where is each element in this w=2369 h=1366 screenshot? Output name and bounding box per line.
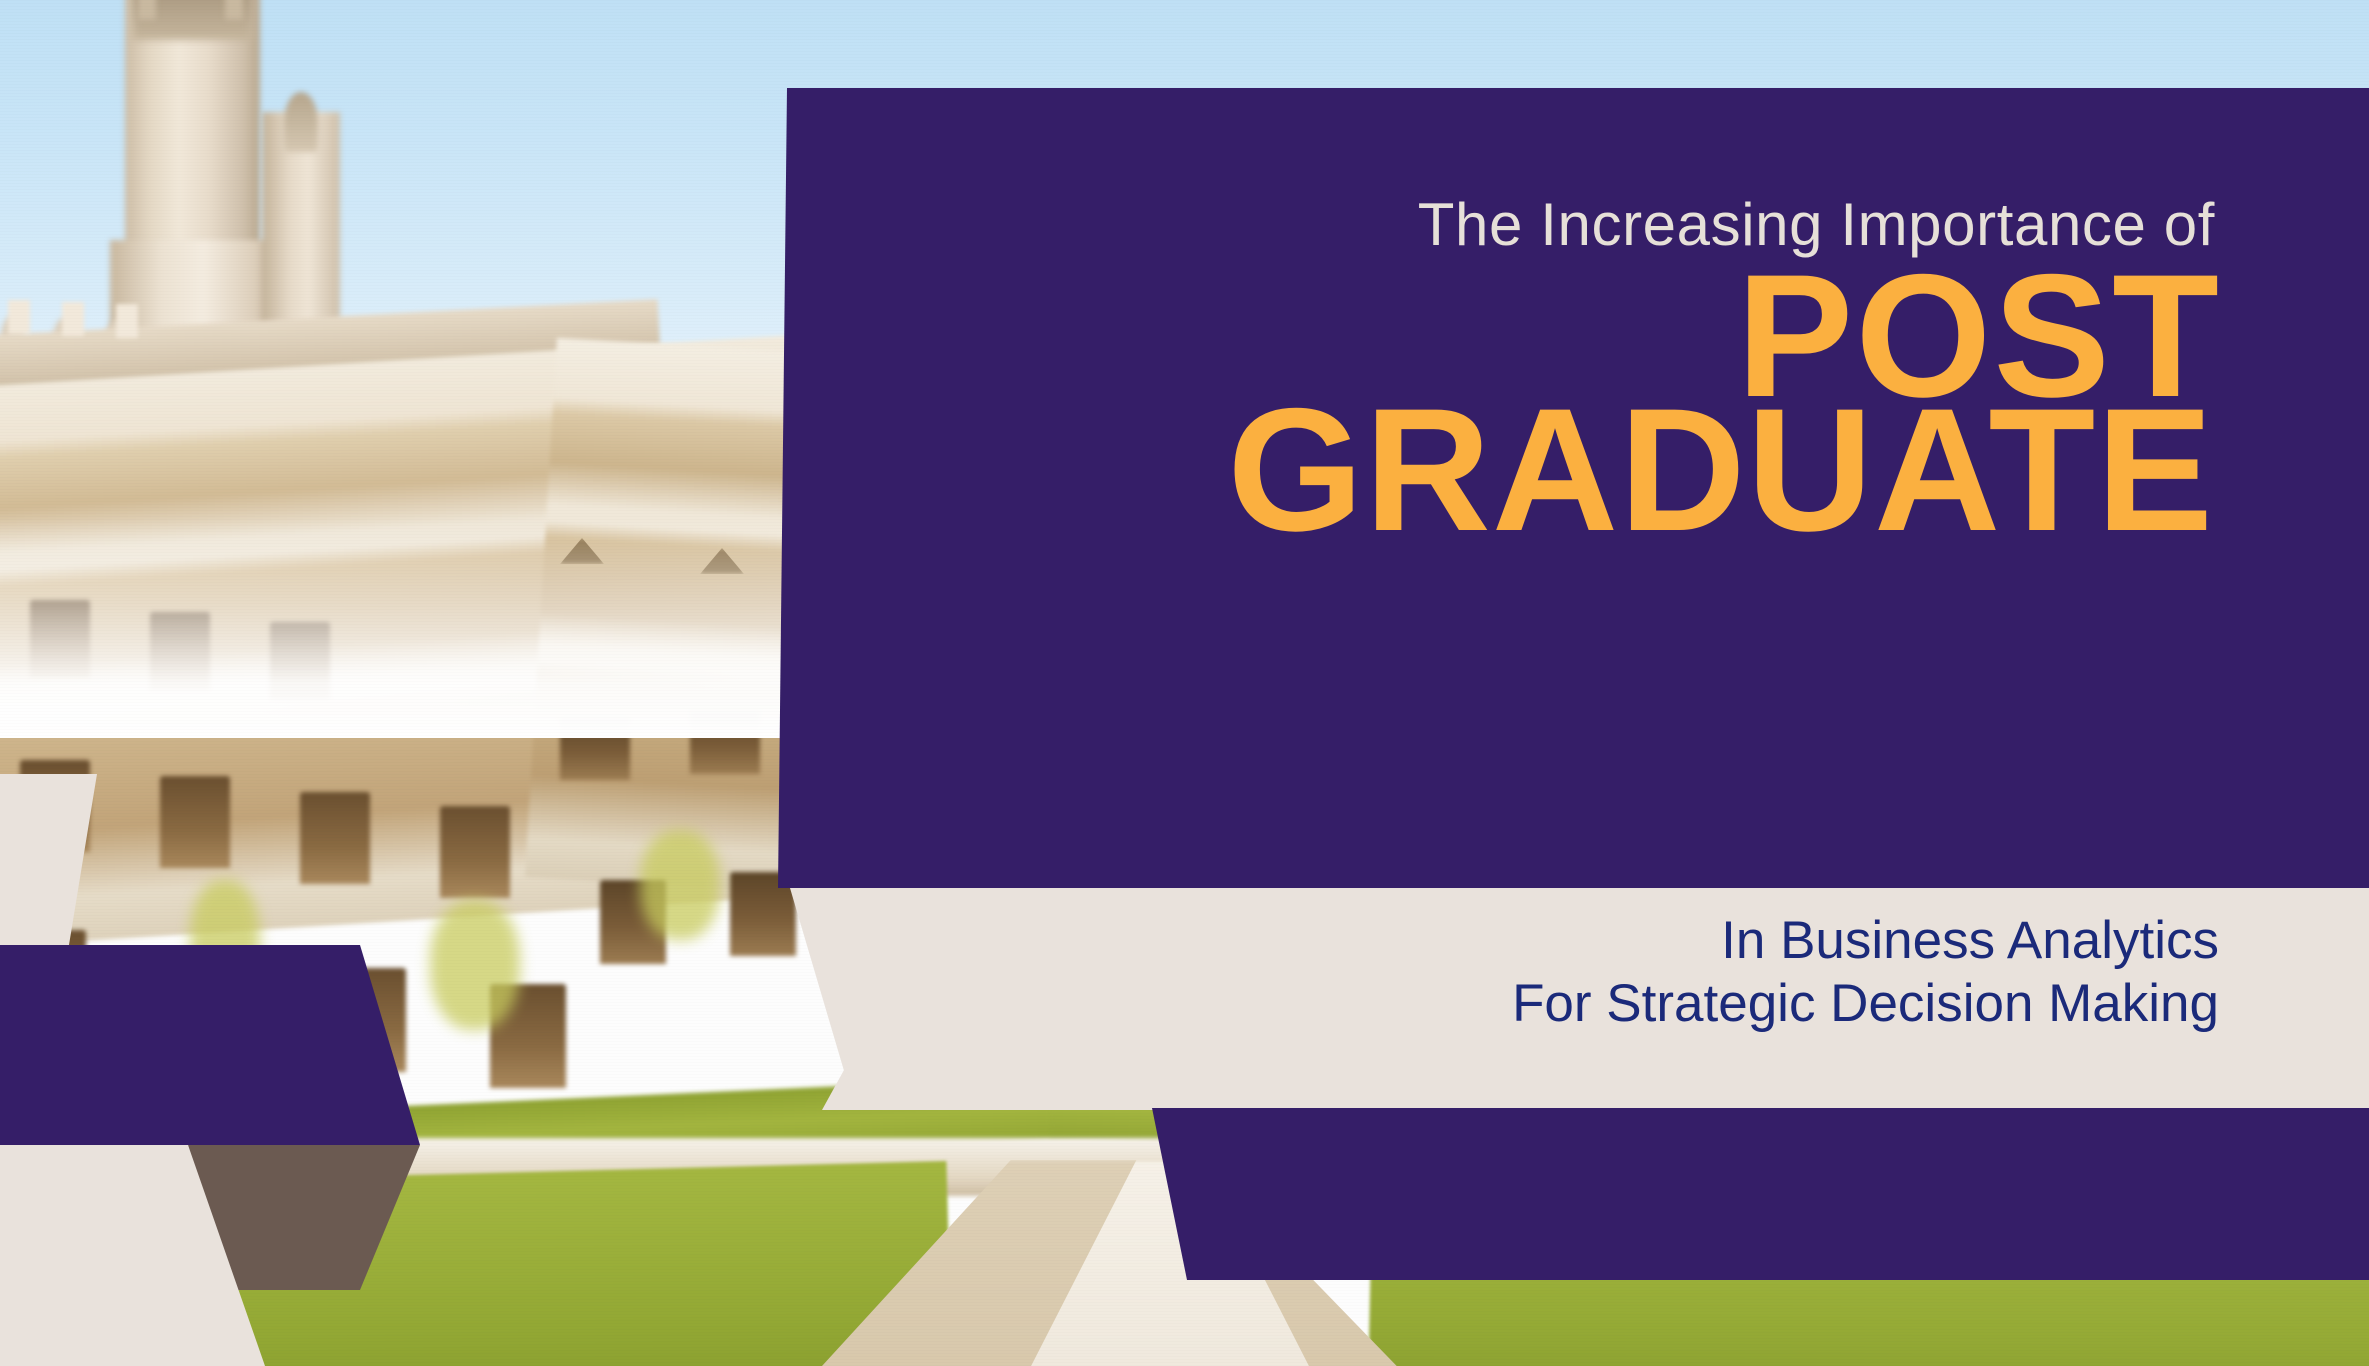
headline-line-2: GRADUATE [1227,390,2214,551]
poster-canvas: The Increasing Importance of POST GRADUA… [0,0,2369,1366]
subtitle-block: In Business Analytics For Strategic Deci… [1512,910,2219,1035]
subtitle-line-1: In Business Analytics [1512,910,2219,973]
subtitle-line-2: For Strategic Decision Making [1512,973,2219,1036]
